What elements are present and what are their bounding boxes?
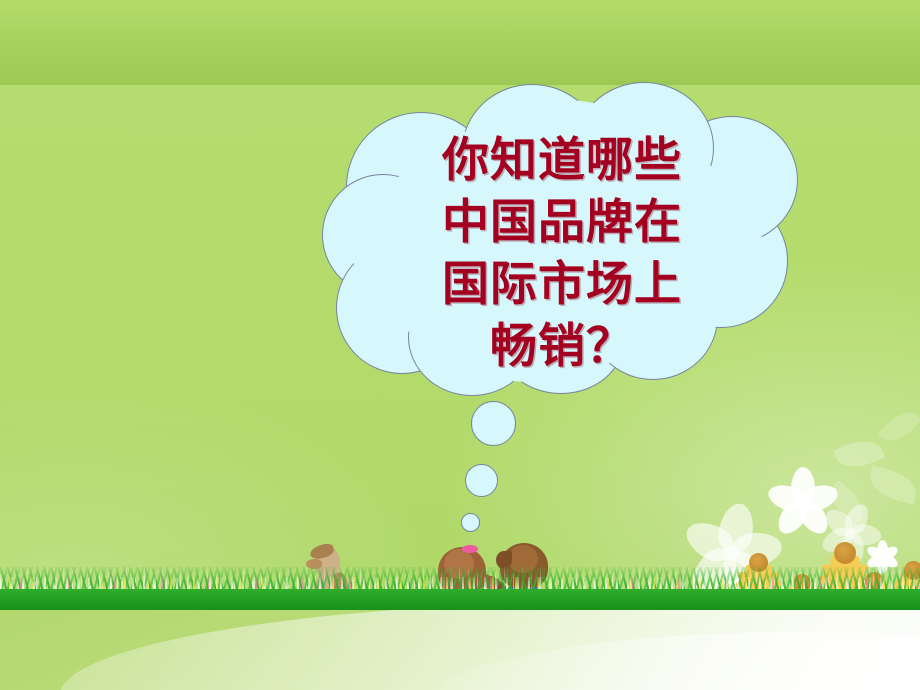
bottom-swoosh-band: [0, 610, 920, 690]
decorative-leaf-icon: [823, 480, 871, 525]
slide-canvas: 你知道哪些 中国品牌在 国际市场上 畅销？: [0, 0, 920, 690]
thought-tail-dot-large: [471, 401, 516, 446]
grass-base: [0, 589, 920, 611]
girl-hair-tie: [462, 545, 478, 553]
decorative-leaf-icon: [833, 433, 885, 474]
top-banner: [0, 0, 920, 85]
decorative-leaf-icon: [865, 465, 920, 504]
decorative-leaf-icon: [878, 404, 920, 449]
bubble-text-line-3: 国际市场上: [392, 254, 732, 316]
thought-bubble: 你知道哪些 中国品牌在 国际市场上 畅销？: [322, 82, 802, 397]
bubble-text-line-4: 畅销？: [392, 316, 732, 378]
decorative-flower-icon: [760, 460, 846, 546]
thought-tail-dot-small: [461, 513, 480, 532]
bubble-text: 你知道哪些 中国品牌在 国际市场上 畅销？: [392, 130, 732, 378]
bubble-text-line-2: 中国品牌在: [392, 192, 732, 254]
bubble-text-line-1: 你知道哪些: [392, 130, 732, 192]
grass-strip: [0, 565, 920, 611]
thought-tail-dot-medium: [465, 464, 498, 497]
